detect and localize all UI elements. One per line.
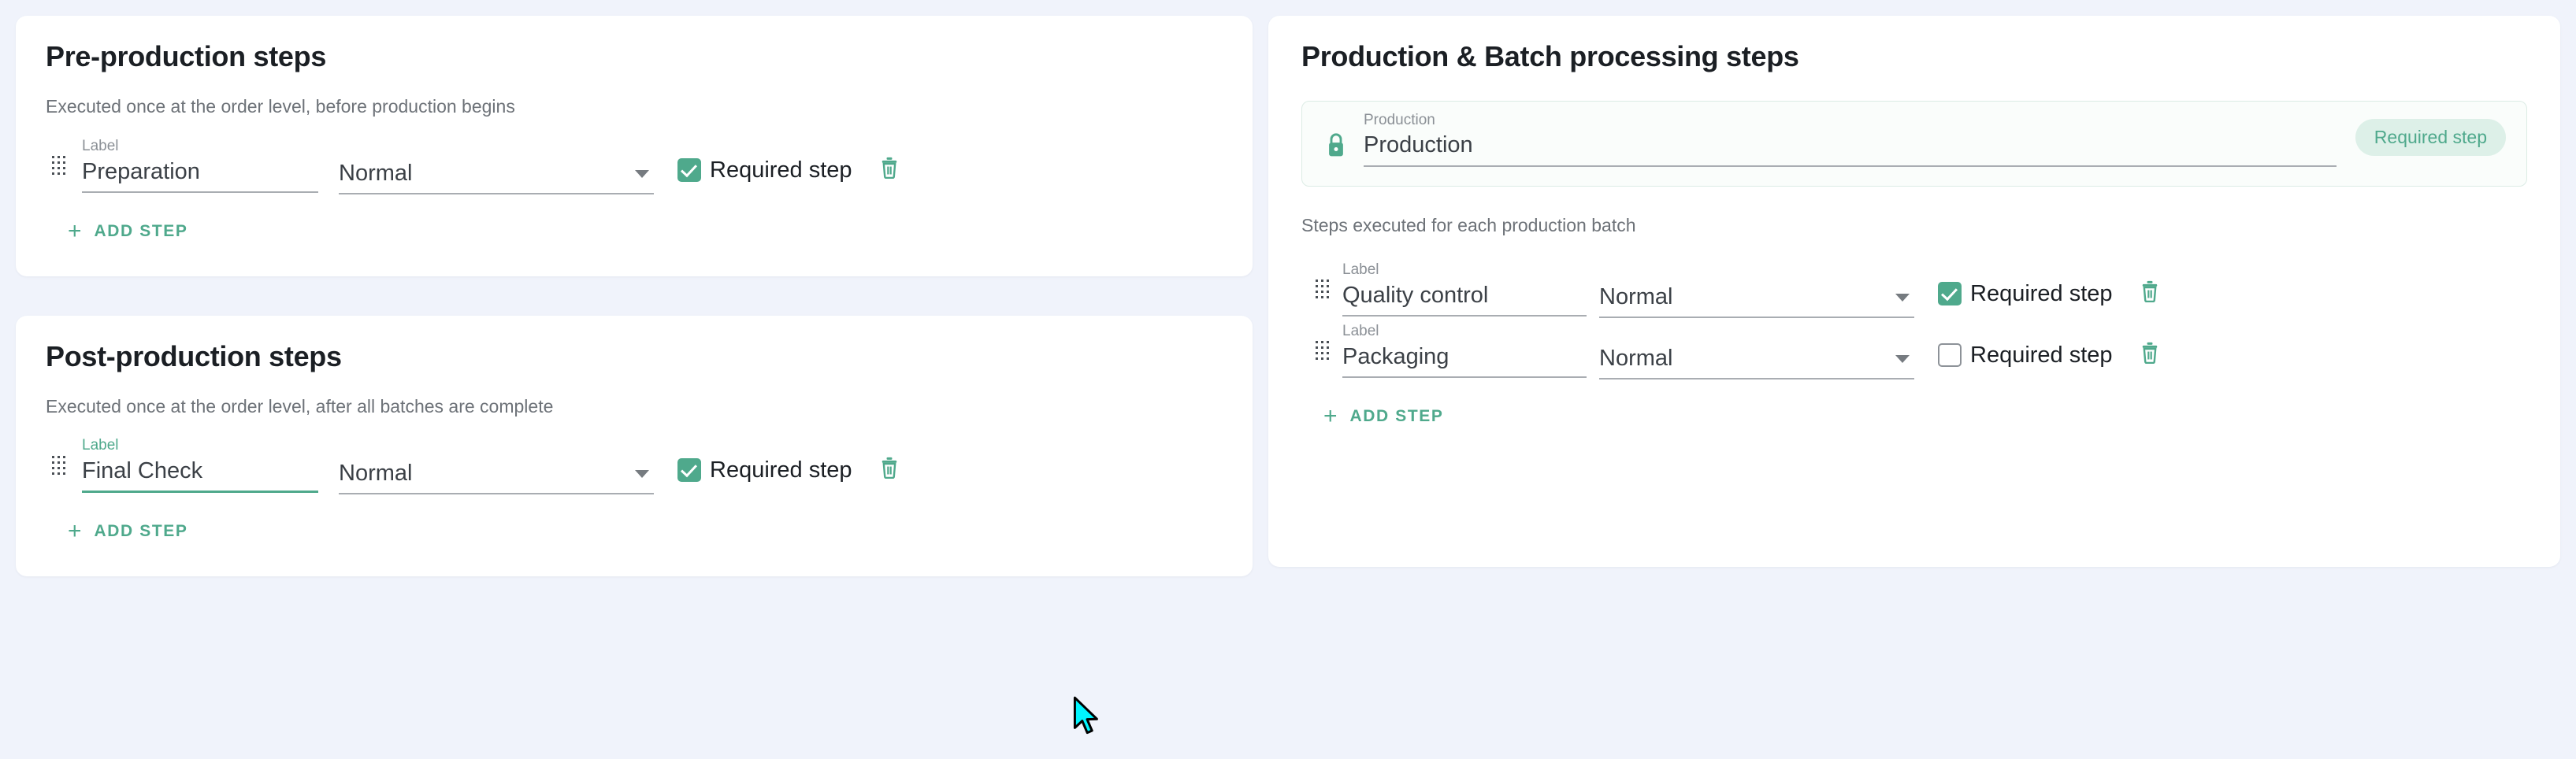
field-underline	[1342, 376, 1587, 378]
drag-dots	[52, 156, 67, 176]
step-type-value: Normal	[339, 161, 412, 187]
required-step-label: Required step	[710, 459, 852, 482]
post-production-title: Post-production steps	[46, 341, 1223, 372]
post-production-steps-list: Label Final Check Normal Required st	[46, 433, 1223, 494]
step-label-field[interactable]: Label Preparation	[82, 159, 318, 194]
step-type-select[interactable]: Normal	[339, 161, 654, 194]
chevron-down-icon	[635, 170, 649, 178]
post-production-description: Executed once at the order level, after …	[46, 396, 1223, 418]
required-step-label: Required step	[710, 159, 852, 182]
step-type-select[interactable]: Normal	[1599, 346, 1914, 379]
field-underline	[82, 491, 318, 493]
select-underline	[1599, 378, 1914, 379]
required-step-checkbox[interactable]: Required step	[1938, 282, 2113, 305]
step-row: Label Final Check Normal Required st	[46, 433, 1223, 494]
plus-icon: +	[68, 220, 82, 243]
drag-handle-icon[interactable]	[46, 150, 72, 182]
step-label-caption: Label	[82, 139, 119, 154]
field-underline	[1364, 165, 2337, 167]
step-type-select[interactable]: Normal	[1599, 284, 1914, 318]
production-label-input[interactable]: Production	[1364, 132, 2337, 158]
production-label-caption: Production	[1364, 112, 1435, 129]
trash-icon[interactable]	[876, 154, 903, 180]
steps-configuration-page: Pre-production steps Executed once at th…	[0, 0, 2576, 759]
step-type-value: Normal	[1599, 346, 1672, 372]
step-row: Label Packaging Normal Required step	[1301, 318, 2527, 379]
trash-icon[interactable]	[2136, 277, 2163, 304]
drag-dots	[52, 456, 67, 476]
required-step-checkbox[interactable]: Required step	[1938, 343, 2113, 367]
batch-description: Steps executed for each production batch	[1301, 215, 2527, 237]
locked-production-step: Production Production Required step	[1301, 101, 2527, 187]
step-row: Label Quality control Normal Require	[1301, 257, 2527, 318]
chevron-down-icon	[1895, 294, 1910, 302]
plus-icon: +	[1323, 405, 1338, 428]
field-underline	[1342, 315, 1587, 317]
drag-handle-icon[interactable]	[1309, 335, 1336, 367]
field-underline	[82, 191, 318, 193]
post-production-card: Post-production steps Executed once at t…	[16, 316, 1253, 576]
chevron-down-icon	[635, 470, 649, 478]
step-label-field[interactable]: Label Quality control	[1342, 283, 1587, 318]
add-step-button-post[interactable]: + ADD STEP	[68, 520, 188, 543]
step-label-input[interactable]: Final Check	[82, 458, 318, 484]
step-label-caption: Label	[82, 438, 119, 453]
step-row: Label Preparation Normal Required st	[46, 133, 1223, 194]
select-underline	[339, 193, 654, 194]
production-card: Production & Batch processing steps Prod…	[1268, 16, 2560, 567]
checkbox-box[interactable]	[677, 158, 701, 182]
checkbox-box[interactable]	[1938, 282, 1962, 305]
chevron-down-icon	[1895, 355, 1910, 363]
add-step-label: ADD STEP	[1350, 407, 1444, 426]
checkbox-box[interactable]	[677, 458, 701, 482]
batch-steps-list: Label Quality control Normal Require	[1301, 257, 2527, 379]
left-column: Pre-production steps Executed once at th…	[0, 0, 1268, 759]
required-step-checkbox[interactable]: Required step	[677, 158, 852, 182]
drag-dots	[1316, 341, 1331, 361]
plus-icon: +	[68, 520, 82, 543]
required-step-checkbox[interactable]: Required step	[677, 458, 852, 482]
drag-handle-icon[interactable]	[46, 450, 72, 482]
trash-icon[interactable]	[876, 454, 903, 480]
add-step-button-batch[interactable]: + ADD STEP	[1323, 405, 1444, 428]
step-label-caption: Label	[1342, 262, 1379, 277]
step-type-value: Normal	[1599, 284, 1672, 310]
step-type-select[interactable]: Normal	[339, 461, 654, 494]
required-step-label: Required step	[1970, 344, 2113, 367]
required-step-label: Required step	[1970, 283, 2113, 305]
step-type-value: Normal	[339, 461, 412, 487]
step-label-input[interactable]: Quality control	[1342, 283, 1587, 309]
pre-production-description: Executed once at the order level, before…	[46, 96, 1223, 118]
step-label-caption: Label	[1342, 324, 1379, 339]
trash-icon[interactable]	[2136, 339, 2163, 365]
step-label-input[interactable]: Preparation	[82, 159, 318, 185]
select-underline	[1599, 317, 1914, 318]
drag-dots	[1316, 280, 1331, 300]
add-step-label: ADD STEP	[95, 522, 188, 541]
production-title: Production & Batch processing steps	[1301, 41, 2527, 72]
pre-production-card: Pre-production steps Executed once at th…	[16, 16, 1253, 276]
select-underline	[339, 493, 654, 494]
pre-production-steps-list: Label Preparation Normal Required st	[46, 133, 1223, 194]
step-label-input[interactable]: Packaging	[1342, 344, 1587, 370]
lock-icon	[1321, 131, 1351, 159]
drag-handle-icon[interactable]	[1309, 274, 1336, 305]
add-step-label: ADD STEP	[95, 222, 188, 241]
add-step-button-pre[interactable]: + ADD STEP	[68, 220, 188, 243]
production-label-field[interactable]: Production Production	[1364, 132, 2337, 166]
pre-production-title: Pre-production steps	[46, 41, 1223, 72]
checkbox-box[interactable]	[1938, 343, 1962, 367]
step-label-field[interactable]: Label Packaging	[1342, 344, 1587, 379]
right-column: Production & Batch processing steps Prod…	[1268, 0, 2576, 759]
status-badge: Required step	[2355, 119, 2506, 156]
step-label-field[interactable]: Label Final Check	[82, 458, 318, 494]
